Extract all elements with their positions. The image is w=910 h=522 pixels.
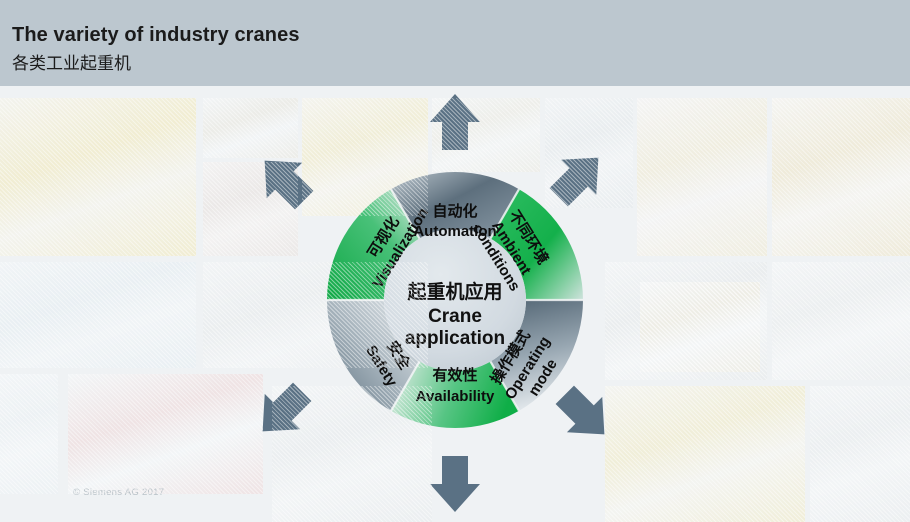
photo-hatch-overlay xyxy=(772,262,910,380)
photo-hatch-overlay xyxy=(545,98,633,208)
photo-gantry-outdoor xyxy=(203,262,428,368)
photo-industrial-hall-right xyxy=(810,386,910,522)
photo-hatch-overlay xyxy=(605,386,805,522)
photo-hatch-overlay xyxy=(203,262,428,368)
photo-hatch-overlay xyxy=(432,98,540,172)
photo-tower-crane xyxy=(0,374,58,494)
photo-yellow-gantry-hall xyxy=(605,386,805,522)
segment-label-automation-zh: 自动化 xyxy=(432,202,477,220)
photo-hatch-overlay xyxy=(810,386,910,522)
photo-dock-crane-blue xyxy=(0,262,196,368)
photo-hatch-overlay xyxy=(637,98,767,256)
segment-label-availability-zh: 有效性 xyxy=(432,366,477,384)
photo-hatch-overlay xyxy=(640,282,760,372)
page-title-zh: 各类工业起重机 xyxy=(12,49,131,74)
photo-hall-interior-tanks xyxy=(203,162,298,256)
photo-hall-overhead-cranes-yellow xyxy=(0,98,196,256)
photo-hall-roof-gantry xyxy=(545,98,633,208)
photo-hall-crane-window xyxy=(203,98,298,158)
photo-paper-roll-crane xyxy=(637,98,767,256)
slide-root: 起重机应用 Crane application 自动化 Automation 有… xyxy=(0,0,910,522)
arrow-down-icon xyxy=(430,456,480,512)
photo-hatch-overlay xyxy=(0,262,196,368)
photo-hatch-overlay xyxy=(203,162,298,256)
photo-hatch-overlay xyxy=(272,386,432,522)
photo-jib-crane xyxy=(640,282,760,372)
photo-hatch-overlay xyxy=(0,374,58,494)
photo-crawler-crane-red xyxy=(68,374,263,494)
photo-bridge-crane-steel xyxy=(432,98,540,172)
photo-hall-overhead-hook xyxy=(272,386,432,522)
photo-hatch-overlay xyxy=(772,98,910,256)
hub-label-en-line1: Crane xyxy=(428,306,482,327)
photo-warehouse-stacker xyxy=(772,98,910,256)
photo-coil-warehouse xyxy=(772,262,910,380)
photo-hatch-overlay xyxy=(203,98,298,158)
photo-hatch-overlay xyxy=(0,98,196,256)
photo-hatch-overlay xyxy=(302,98,428,216)
header-bar: The variety of industry cranes 各类工业起重机 xyxy=(0,0,910,86)
photo-crane-hook-yellow xyxy=(302,98,428,216)
photo-hatch-overlay xyxy=(68,374,263,494)
page-title-en: The variety of industry cranes xyxy=(12,24,300,47)
